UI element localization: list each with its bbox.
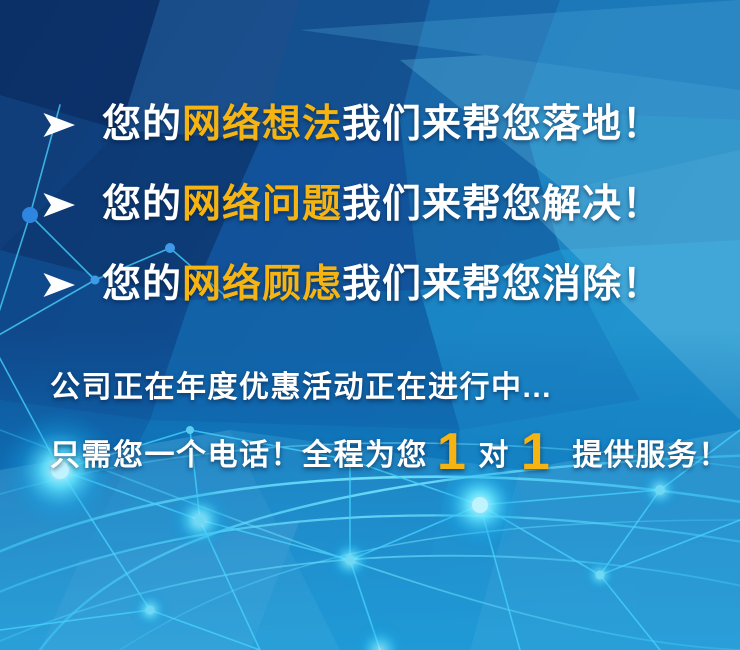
service-middle-word: 对 — [476, 430, 512, 474]
headline-2-highlight: 网络问题 — [182, 183, 342, 226]
headline-3-prefix: 您的 — [102, 263, 182, 306]
headline-row-3: 您的网络顾虑我们来帮您消除！ — [42, 263, 662, 307]
headline-2-prefix: 您的 — [102, 183, 182, 226]
promo-subline: 公司正在年度优惠活动正在进行中... — [50, 362, 552, 406]
headline-row-1: 您的网络想法我们来帮您落地！ — [42, 103, 662, 147]
headline-1-prefix: 您的 — [102, 103, 182, 146]
arrow-right-triangle-icon — [42, 190, 76, 220]
headline-2-suffix: 我们来帮您解决！ — [342, 183, 662, 226]
service-text-part2: 提供服务！ — [572, 430, 730, 474]
headline-3-suffix: 我们来帮您消除！ — [342, 263, 662, 306]
promo-banner: 您的网络想法我们来帮您落地！ 您的网络问题我们来帮您解决！ 您的网络顾虑我们来帮… — [0, 0, 740, 650]
arrow-right-triangle-icon — [42, 110, 76, 140]
arrow-right-triangle-icon — [42, 270, 76, 300]
headline-text-1: 您的网络想法我们来帮您落地！ — [102, 103, 662, 147]
headline-row-2: 您的网络问题我们来帮您解决！ — [42, 183, 662, 227]
service-number-second: 1 — [512, 435, 560, 469]
headline-1-highlight: 网络想法 — [182, 103, 342, 146]
service-subline: 只需您一个电话！全程为您 1 对 1 提供服务！ — [50, 430, 730, 474]
service-number-first: 1 — [428, 435, 476, 469]
headline-1-suffix: 我们来帮您落地！ — [342, 103, 662, 146]
service-text-part1: 只需您一个电话！全程为您 — [50, 430, 428, 474]
headline-text-2: 您的网络问题我们来帮您解决！ — [102, 183, 662, 227]
headline-3-highlight: 网络顾虑 — [182, 263, 342, 306]
headline-text-3: 您的网络顾虑我们来帮您消除！ — [102, 263, 662, 307]
banner-content: 您的网络想法我们来帮您落地！ 您的网络问题我们来帮您解决！ 您的网络顾虑我们来帮… — [0, 0, 740, 650]
